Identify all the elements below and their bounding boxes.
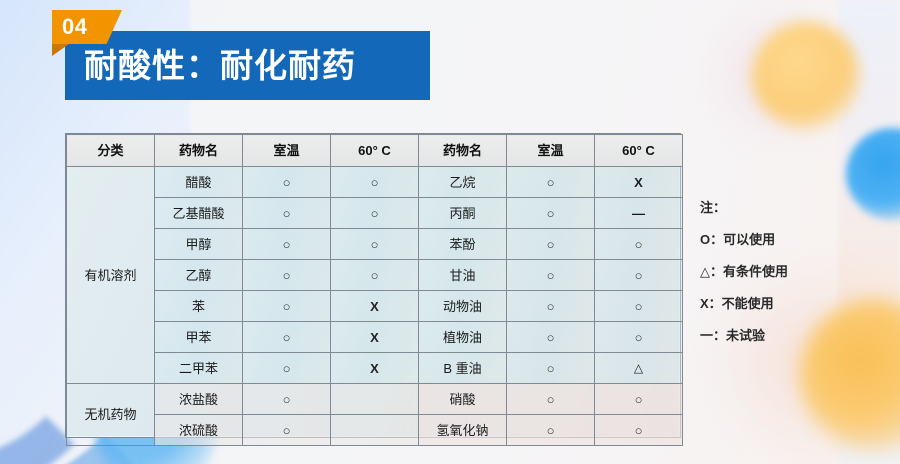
hot-left: ○: [331, 198, 419, 229]
roomtemp-left: ○: [243, 167, 331, 198]
legend-item-not-ok: X：不能使用: [700, 296, 870, 312]
table-row: 乙基醋酸 ○ ○ 丙酮 ○ —: [67, 198, 683, 229]
table-row: 甲苯 ○ X 植物油 ○ ○: [67, 322, 683, 353]
roomtemp-right: ○: [507, 353, 595, 384]
th-drug-right: 药物名: [419, 135, 507, 167]
drug-name-right: 乙烷: [419, 167, 507, 198]
hot-left: X: [331, 322, 419, 353]
slide-canvas: 04 耐酸性：耐化耐药 分类 药物名 室温 60° C 药物名 室温 60° C: [0, 0, 900, 464]
roomtemp-left: ○: [243, 198, 331, 229]
roomtemp-right: ○: [507, 415, 595, 446]
roomtemp-left: ○: [243, 291, 331, 322]
roomtemp-right: ○: [507, 167, 595, 198]
drug-name-right: 硝酸: [419, 384, 507, 415]
th-roomtemp-left: 室温: [243, 135, 331, 167]
hot-left: ○: [331, 167, 419, 198]
th-drug-left: 药物名: [155, 135, 243, 167]
drug-name-left: 浓硫酸: [155, 415, 243, 446]
orange-circle-top-right: [752, 22, 860, 130]
table-row: 乙醇 ○ ○ 甘油 ○ ○: [67, 260, 683, 291]
th-60c-left: 60° C: [331, 135, 419, 167]
hot-right: ○: [595, 384, 683, 415]
drug-name-right: 丙酮: [419, 198, 507, 229]
drug-name-left: 甲醇: [155, 229, 243, 260]
legend-item-untested: 一：未试验: [700, 328, 870, 344]
hot-left: [331, 415, 419, 446]
table-row: 二甲苯 ○ X B 重油 ○ △: [67, 353, 683, 384]
th-roomtemp-right: 室温: [507, 135, 595, 167]
drug-name-right: B 重油: [419, 353, 507, 384]
hot-right: X: [595, 167, 683, 198]
page-title: 耐酸性：耐化耐药: [84, 42, 424, 90]
hot-left: [331, 384, 419, 415]
drug-name-right: 动物油: [419, 291, 507, 322]
drug-name-right: 植物油: [419, 322, 507, 353]
th-60c-right: 60° C: [595, 135, 683, 167]
table-header-row: 分类 药物名 室温 60° C 药物名 室温 60° C: [67, 135, 683, 167]
drug-name-right: 甘油: [419, 260, 507, 291]
hot-right: ○: [595, 260, 683, 291]
table-row: 无机药物 浓盐酸 ○ 硝酸 ○ ○: [67, 384, 683, 415]
hot-right: ○: [595, 322, 683, 353]
legend-item-ok: O：可以使用: [700, 232, 870, 248]
hot-right: ○: [595, 229, 683, 260]
roomtemp-left: ○: [243, 384, 331, 415]
hot-left: ○: [331, 229, 419, 260]
hot-left: X: [331, 291, 419, 322]
hot-left: ○: [331, 260, 419, 291]
roomtemp-right: ○: [507, 384, 595, 415]
hot-right: ○: [595, 415, 683, 446]
drug-name-left: 二甲苯: [155, 353, 243, 384]
table-row: 苯 ○ X 动物油 ○ ○: [67, 291, 683, 322]
legend-block: 注： O：可以使用 △：有条件使用 X：不能使用 一：未试验: [700, 200, 870, 360]
resistance-table: 分类 药物名 室温 60° C 药物名 室温 60° C 有机溶剂 醋酸 ○ ○…: [66, 134, 683, 446]
drug-name-left: 乙基醋酸: [155, 198, 243, 229]
hot-right: ○: [595, 291, 683, 322]
hot-left: X: [331, 353, 419, 384]
roomtemp-left: ○: [243, 322, 331, 353]
slide-number-label: 04: [62, 13, 87, 41]
chemical-resistance-table: 分类 药物名 室温 60° C 药物名 室温 60° C 有机溶剂 醋酸 ○ ○…: [65, 133, 681, 438]
roomtemp-right: ○: [507, 198, 595, 229]
th-category: 分类: [67, 135, 155, 167]
drug-name-left: 醋酸: [155, 167, 243, 198]
roomtemp-right: ○: [507, 229, 595, 260]
drug-name-left: 乙醇: [155, 260, 243, 291]
roomtemp-left: ○: [243, 229, 331, 260]
category-cell-organic: 有机溶剂: [67, 167, 155, 384]
legend-heading: 注：: [700, 200, 870, 216]
table-row: 浓硫酸 ○ 氢氧化钠 ○ ○: [67, 415, 683, 446]
table-row: 有机溶剂 醋酸 ○ ○ 乙烷 ○ X: [67, 167, 683, 198]
table-head: 分类 药物名 室温 60° C 药物名 室温 60° C: [67, 135, 683, 167]
roomtemp-left: ○: [243, 353, 331, 384]
drug-name-right: 苯酚: [419, 229, 507, 260]
legend-item-conditional: △：有条件使用: [700, 264, 870, 280]
table-body: 有机溶剂 醋酸 ○ ○ 乙烷 ○ X 乙基醋酸 ○ ○ 丙酮 ○ —: [67, 167, 683, 446]
drug-name-right: 氢氧化钠: [419, 415, 507, 446]
roomtemp-right: ○: [507, 291, 595, 322]
roomtemp-right: ○: [507, 260, 595, 291]
table-row: 甲醇 ○ ○ 苯酚 ○ ○: [67, 229, 683, 260]
drug-name-left: 浓盐酸: [155, 384, 243, 415]
roomtemp-right: ○: [507, 322, 595, 353]
drug-name-left: 苯: [155, 291, 243, 322]
drug-name-left: 甲苯: [155, 322, 243, 353]
hot-right: △: [595, 353, 683, 384]
hot-right: —: [595, 198, 683, 229]
roomtemp-left: ○: [243, 260, 331, 291]
category-cell-inorganic: 无机药物: [67, 384, 155, 446]
roomtemp-left: ○: [243, 415, 331, 446]
